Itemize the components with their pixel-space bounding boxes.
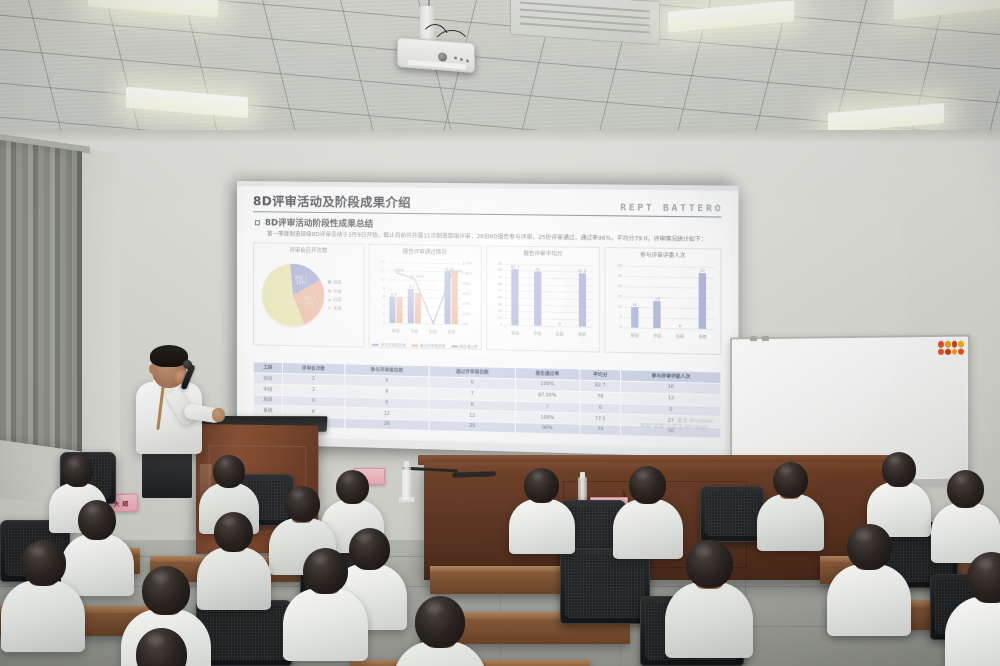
legend-swatch (372, 344, 379, 347)
pie-legend-item: 中段 (328, 288, 341, 294)
audience-head (629, 466, 666, 504)
judges-plot: 05101520253010前段13中段0后段27系统 (624, 266, 714, 329)
legend-label: 参与评审报告数 (380, 343, 406, 349)
y-axis-tick: 80 (498, 268, 503, 272)
chart-title-combo: 报告评审通过情况 (371, 247, 478, 257)
bar (534, 272, 541, 326)
y2-axis-tick: 40% (462, 302, 470, 306)
y-axis-tick: 14 (381, 260, 386, 264)
presenter-legs (142, 450, 192, 498)
table-cell: 26 (345, 418, 430, 430)
pie-legend-item: 后段 (328, 297, 341, 303)
x-axis-label: 后段 (676, 333, 684, 339)
bar-value-label: 0 (679, 324, 681, 328)
y-axis-tick: 0 (620, 325, 622, 329)
y2-axis-tick: 120% (462, 261, 472, 265)
audience-member (756, 462, 824, 541)
legend-swatch (328, 307, 331, 310)
y-axis-tick: 20 (617, 284, 622, 288)
hair-highlight (313, 554, 327, 564)
audience-member (826, 524, 912, 624)
chair-mesh (565, 554, 645, 618)
bar (699, 273, 706, 329)
table-cell: 79 (579, 424, 621, 435)
bar-group (512, 264, 519, 325)
table-cell: 25 (429, 421, 515, 433)
legend-swatch (328, 290, 331, 293)
line-value-label: 100.00% (446, 269, 462, 273)
chart-pie-meetings: 评审会召开次数 前段 218%中段 327%系统 655% 前段中段后段系统 (253, 242, 364, 347)
wall-top-trim (0, 130, 1000, 142)
audience-member (930, 470, 1000, 553)
y2-axis-tick: 60% (462, 292, 470, 296)
combo-plot: 024681012140%20%40%60%80%100%120%6 6前段8 … (387, 262, 461, 324)
hair-highlight (955, 475, 967, 483)
audience-head (21, 540, 66, 586)
microphone-head (183, 360, 192, 369)
pie-legend-item: 前段 (328, 279, 341, 285)
legend-label: 系统 (333, 305, 341, 311)
conference-room-scene: 8D评审活动及阶段成果介绍 REPT BATTERO 8D评审活动阶段性成果总结… (0, 0, 1000, 666)
chart-judges-count: 参与评审评委人次 05101520253010前段13中段0后段27系统 (605, 247, 722, 355)
line-value-label: 87.50% (410, 275, 424, 279)
audience-torso (757, 494, 824, 551)
audience-head (967, 552, 1000, 603)
audience-head (303, 548, 348, 594)
y-axis-tick: 40 (498, 296, 503, 300)
chart-title-avg: 报告评审平均分 (489, 248, 598, 258)
slide-title: 8D评审活动及阶段成果介绍 (253, 191, 411, 211)
bar-group (631, 266, 638, 328)
bar (631, 307, 638, 328)
chair-mesh (201, 606, 287, 660)
y-axis-tick: 4 (383, 303, 385, 307)
audience-torso (827, 564, 911, 636)
bar-value-label: 77.5 (578, 269, 586, 273)
pie-legend-item: 系统 (328, 305, 341, 311)
y-axis-tick: 2 (383, 312, 385, 316)
audience-torso (1, 580, 85, 652)
audience-torso (283, 588, 368, 661)
audience-head (847, 524, 892, 570)
bar-group (556, 265, 563, 326)
x-axis-label: 中段 (533, 331, 541, 337)
audience-member (866, 452, 931, 528)
audience-member (664, 540, 754, 645)
x-axis-label: 中段 (410, 328, 418, 334)
pie-legend: 前段中段后段系统 (328, 279, 341, 311)
legend-item: 通过评审报告数 (411, 343, 445, 349)
hair-highlight (30, 546, 44, 556)
x-axis-label: 前段 (631, 332, 639, 338)
whiteboard-clip-left2 (762, 336, 769, 341)
audience-torso (509, 499, 575, 554)
x-axis-label: 后段 (429, 328, 437, 334)
hair-highlight (147, 634, 163, 646)
slide-header: 8D评审活动及阶段成果介绍 REPT BATTERO (253, 191, 722, 214)
hair-highlight (220, 459, 230, 466)
hair-highlight (532, 472, 543, 480)
bar-value-label: 13 (655, 297, 660, 301)
audience-head (78, 500, 116, 540)
audience-head (686, 540, 733, 588)
audience-member (112, 628, 211, 666)
combo-chart: 024681012140%20%40%60%80%100%120%6 6前段8 … (371, 256, 478, 337)
y2-axis-tick: 80% (462, 281, 470, 285)
y2-axis-tick: 100% (462, 271, 472, 275)
y-axis-tick: 70 (498, 275, 503, 279)
y2-axis-tick: 20% (462, 312, 470, 316)
bar (654, 301, 661, 328)
legend-swatch (451, 345, 458, 348)
audience-head (142, 566, 190, 615)
combo-legend: 参与评审报告数通过评审报告数报告通过率 (371, 343, 478, 350)
line-value-label: 100% (394, 268, 404, 272)
y-axis-tick: 30 (498, 302, 503, 306)
x-axis-label: 系统 (448, 329, 456, 335)
bar-group (534, 264, 541, 325)
table-cell: 中段 (253, 384, 282, 395)
hair-highlight (696, 546, 711, 557)
audience-head (336, 470, 369, 504)
chart-average-score: 报告评审平均分 010203040506070809082.7前段79中段0后段… (486, 245, 601, 352)
y-axis-tick: 10 (617, 304, 622, 308)
y-axis-tick: 12 (381, 269, 386, 273)
charts-row: 评审会召开次数 前段 218%中段 327%系统 655% 前段中段后段系统 报… (253, 242, 722, 355)
hair-highlight (69, 459, 79, 466)
legend-swatch (411, 345, 418, 348)
avg-plot: 010203040506070809082.7前段79中段0后段77.5系统 (504, 264, 593, 327)
audience-head (285, 486, 320, 522)
x-axis-label: 系统 (699, 334, 707, 340)
pie-wrap: 前段 218%中段 327%系统 655% 前段中段后段系统 (256, 254, 361, 336)
audience-member (944, 552, 1000, 662)
presentation-slide: 8D评审活动及阶段成果介绍 REPT BATTERO 8D评审活动阶段性成果总结… (245, 186, 730, 447)
y-axis-tick: 60 (498, 282, 503, 286)
whiteboard-clip-left (750, 336, 757, 341)
bullet-text: 8D评审活动阶段性成果总结 (265, 217, 373, 230)
table-cell: 系统 (253, 405, 282, 417)
table-cell: 96% (515, 423, 579, 435)
avg-chart: 010203040506070809082.7前段79中段0后段77.5系统 (489, 257, 598, 338)
x-axis-label: 前段 (511, 330, 519, 336)
audience-member (0, 540, 86, 640)
legend-label: 报告通过率 (459, 344, 477, 349)
legend-swatch (328, 281, 331, 284)
hair-highlight (780, 466, 791, 474)
projector-lens (438, 52, 447, 62)
y-axis-tick: 90 (498, 262, 503, 266)
audience-member (612, 466, 683, 549)
bullet-square-icon (255, 220, 260, 225)
chart-title-pie: 评审会召开次数 (256, 245, 361, 255)
hair-highlight (856, 530, 870, 540)
legend-item: 报告通过率 (451, 344, 478, 350)
bar (512, 269, 519, 325)
pie-slice-label: 系统 655% (265, 293, 287, 304)
hair-highlight (292, 490, 303, 498)
y-axis-tick: 8 (383, 286, 385, 290)
bar-value-label: 82.7 (511, 265, 519, 269)
y-axis-tick: 30 (617, 263, 622, 267)
bar-group (676, 266, 683, 328)
legend-label: 通过评审报告数 (420, 344, 446, 350)
bar-value-label: 0 (558, 322, 560, 326)
hair-highlight (153, 572, 168, 583)
chair-back (560, 548, 650, 624)
pie-chart: 前段 218%中段 327%系统 655% (262, 263, 324, 326)
y-axis-tick: 5 (620, 315, 622, 319)
legend-item: 参与评审报告数 (372, 343, 406, 349)
audience-head (947, 470, 984, 508)
chart-title-judges: 参与评审评委人次 (608, 250, 718, 260)
y-axis-tick: 25 (617, 274, 622, 278)
x-axis-label: 后段 (556, 331, 564, 337)
whiteboard-magnets (938, 341, 964, 355)
y-axis-tick: 0 (500, 323, 502, 327)
hair-highlight (637, 471, 649, 479)
audience-head (882, 452, 916, 487)
hair-highlight (223, 517, 235, 526)
hair-highlight (358, 533, 371, 542)
table-header-cell: 工段 (253, 362, 282, 374)
audience-torso (665, 582, 753, 658)
audience-head (524, 468, 559, 503)
bar-group (699, 267, 706, 329)
y-axis-tick: 50 (498, 289, 503, 293)
hair-highlight (343, 474, 354, 481)
window-curtain (0, 140, 82, 452)
y-axis-tick: 10 (498, 316, 503, 320)
x-axis-label: 前段 (392, 328, 400, 334)
company-logo: REPT BATTERO (620, 203, 723, 214)
audience-head (62, 455, 93, 487)
judges-chart: 05101520253010前段13中段0后段27系统 (608, 259, 718, 341)
audience-head (136, 628, 187, 666)
audience-member (282, 548, 369, 649)
bar-group (578, 265, 585, 327)
chair-back (700, 486, 764, 542)
hair-highlight (889, 456, 900, 464)
presenter-hand-right (212, 408, 225, 422)
table-cell: 前段 (253, 373, 282, 384)
presenter-ear (149, 364, 156, 374)
projector-label (408, 60, 466, 70)
audience-head (773, 462, 808, 498)
hair-highlight (426, 602, 442, 613)
audience-head (415, 596, 465, 648)
y-axis-tick: 15 (617, 294, 622, 298)
x-axis-label: 中段 (653, 333, 661, 339)
y-axis-tick: 10 (381, 277, 386, 281)
bar-value-label: 27 (700, 269, 705, 273)
y2-axis-tick: 0% (462, 322, 468, 326)
audience-head (213, 455, 245, 488)
legend-label: 后段 (333, 297, 341, 303)
water-bottle-1 (402, 466, 411, 500)
pie-slice-label: 前段 218% (290, 275, 312, 286)
legend-label: 中段 (333, 288, 341, 294)
audience-member (392, 596, 488, 666)
y-axis-tick: 20 (498, 309, 503, 313)
legend-label: 前段 (333, 279, 341, 285)
audience-member (508, 468, 575, 545)
audience-torso (945, 596, 1000, 666)
y-axis-tick: 6 (383, 295, 385, 299)
pie-slice-label: 中段 327% (298, 296, 320, 307)
bar (578, 273, 585, 326)
bar-value-label: 79 (535, 268, 540, 272)
chart-report-pass: 报告评审通过情况 024681012140%20%40%60%80%100%12… (368, 244, 481, 350)
y-axis-tick: 0 (383, 321, 385, 325)
bar-value-label: 10 (632, 303, 637, 307)
hair-highlight (978, 558, 994, 569)
table-header-cell: 平均分 (579, 369, 621, 381)
x-axis-label: 系统 (578, 331, 586, 337)
chair-mesh (705, 492, 759, 536)
hair-highlight (86, 505, 98, 514)
audience-head (214, 512, 253, 552)
legend-swatch (328, 298, 331, 301)
table-cell: 后段 (253, 394, 282, 406)
table-cell: 50 (621, 425, 721, 438)
